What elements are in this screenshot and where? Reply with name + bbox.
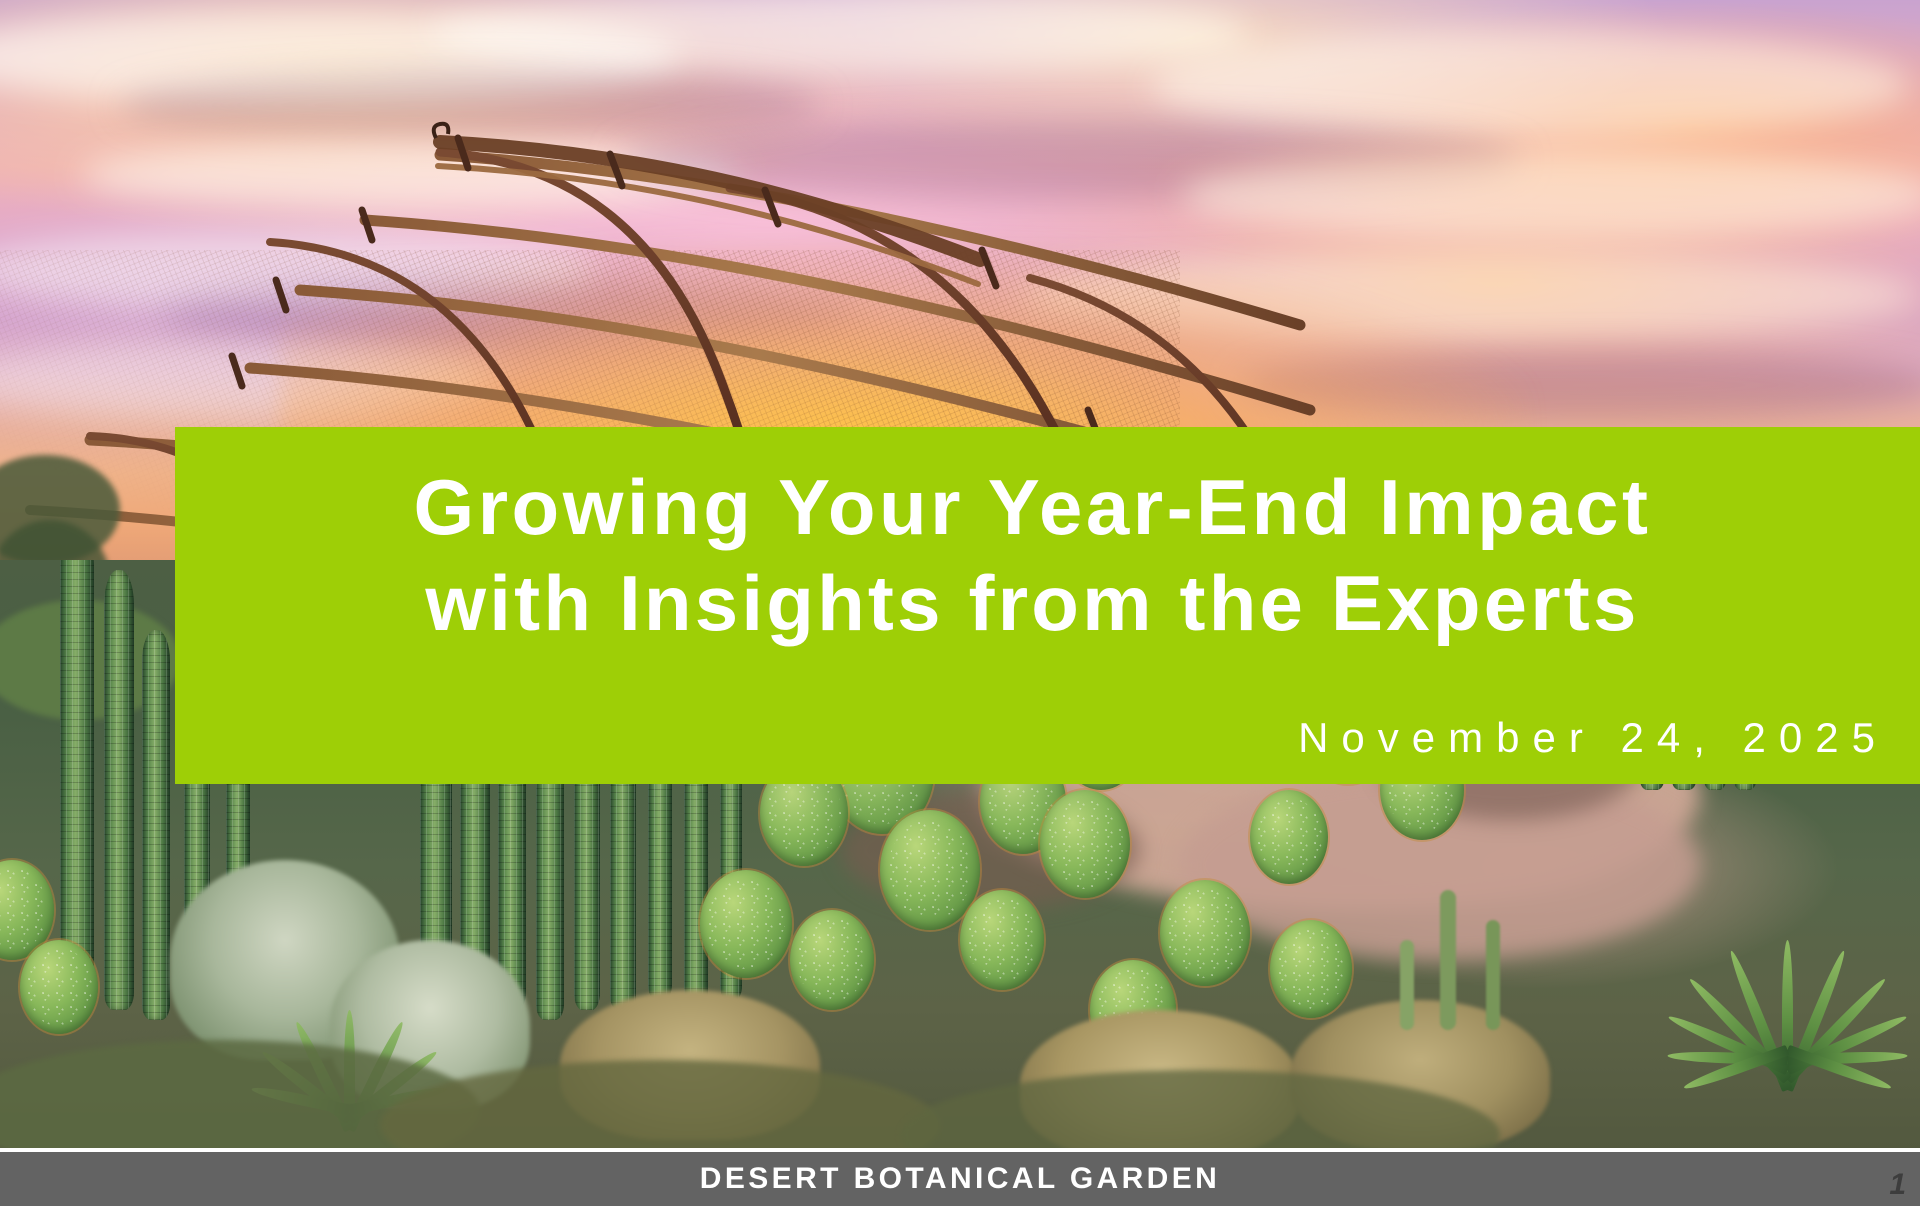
prickly-pear-pad xyxy=(1160,880,1250,986)
organization-name: DESERT BOTANICAL GARDEN xyxy=(0,1162,1920,1196)
prickly-pear-pad xyxy=(1270,920,1352,1018)
cholla-cactus xyxy=(1486,920,1500,1030)
prickly-pear-pad xyxy=(1250,790,1328,884)
footer-bar: DESERT BOTANICAL GARDEN 1 xyxy=(0,1152,1920,1206)
slide-title: Growing Your Year-End Impact with Insigh… xyxy=(175,459,1890,651)
columnar-cactus xyxy=(60,560,94,1000)
prickly-pear-pad xyxy=(790,910,874,1010)
title-line-1: Growing Your Year-End Impact xyxy=(175,459,1890,555)
presentation-slide: Growing Your Year-End Impact with Insigh… xyxy=(0,0,1920,1206)
cholla-cactus xyxy=(1400,940,1414,1030)
prickly-pear-pad xyxy=(960,890,1044,990)
prickly-pear-pad xyxy=(20,940,98,1034)
agave-rosette xyxy=(1660,800,1920,1100)
slide-number: 1 xyxy=(1889,1168,1906,1202)
prickly-pear-pad xyxy=(1040,790,1130,898)
cholla-cactus xyxy=(1440,890,1456,1030)
columnar-cactus xyxy=(142,630,170,1020)
prickly-pear-pad xyxy=(700,870,792,978)
prickly-pear-pad xyxy=(880,810,980,930)
title-line-2: with Insights from the Experts xyxy=(175,555,1890,651)
columnar-cactus xyxy=(104,570,134,1010)
title-banner: Growing Your Year-End Impact with Insigh… xyxy=(175,427,1920,784)
slide-date: November 24, 2025 xyxy=(1298,714,1888,762)
